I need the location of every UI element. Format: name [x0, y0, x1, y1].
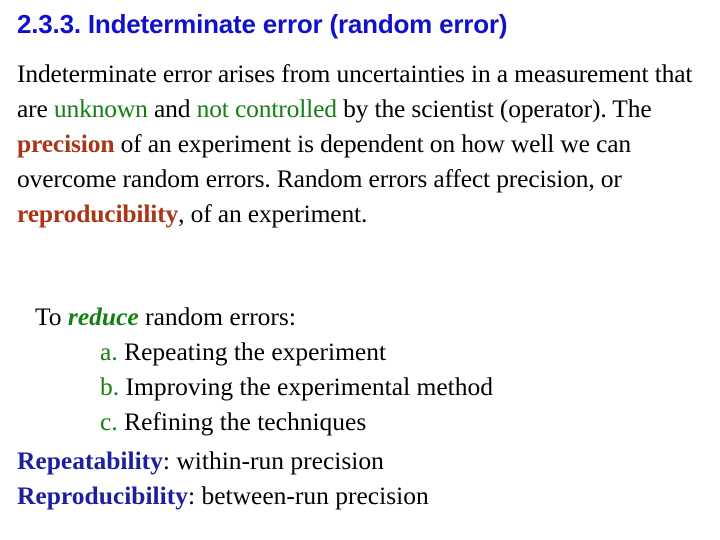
definition-term: Repeatability [17, 446, 163, 475]
page-title: 2.3.3. Indeterminate error (random error… [17, 8, 717, 40]
list-item: b. Improving the experimental method [100, 369, 493, 404]
list-marker: c. [100, 407, 118, 436]
definitions-block: Repeatability: within-run precision Repr… [17, 443, 429, 513]
definition-separator: : [188, 481, 201, 510]
reduce-prefix: To [35, 302, 68, 331]
definition-reproducibility: Reproducibility: between-run precision [17, 478, 429, 513]
emphasis-reduce: reduce [68, 302, 139, 331]
emphasis-reproducibility: reproducibility [17, 199, 178, 228]
reduce-errors-line: To reduce random errors: [35, 299, 296, 334]
reduce-methods-list: a. Repeating the experiment b. Improving… [100, 334, 493, 439]
paragraph-run-4: by the scientist (operator). The [337, 94, 652, 123]
paragraph-run-2: and [148, 94, 197, 123]
emphasis-not-controlled: not controlled [197, 94, 337, 123]
emphasis-unknown: unknown [54, 94, 148, 123]
list-marker: b. [100, 372, 119, 401]
definition-term: Reproducibility [17, 481, 188, 510]
definition-repeatability: Repeatability: within-run precision [17, 443, 429, 478]
list-item: a. Repeating the experiment [100, 334, 493, 369]
body-paragraph: Indeterminate error arises from uncertai… [17, 56, 720, 231]
slide-canvas: 2.3.3. Indeterminate error (random error… [0, 0, 720, 540]
list-item: c. Refining the techniques [100, 404, 493, 439]
list-marker: a. [100, 337, 118, 366]
paragraph-run-8: , of an experiment. [178, 199, 367, 228]
definition-text: between-run precision [201, 481, 428, 510]
emphasis-precision: precision [17, 129, 114, 158]
definition-separator: : [163, 446, 176, 475]
definition-text: within-run precision [176, 446, 384, 475]
list-item-label: Refining the techniques [124, 407, 366, 436]
list-item-label: Improving the experimental method [126, 372, 494, 401]
reduce-suffix: random errors: [139, 302, 296, 331]
list-item-label: Repeating the experiment [124, 337, 386, 366]
